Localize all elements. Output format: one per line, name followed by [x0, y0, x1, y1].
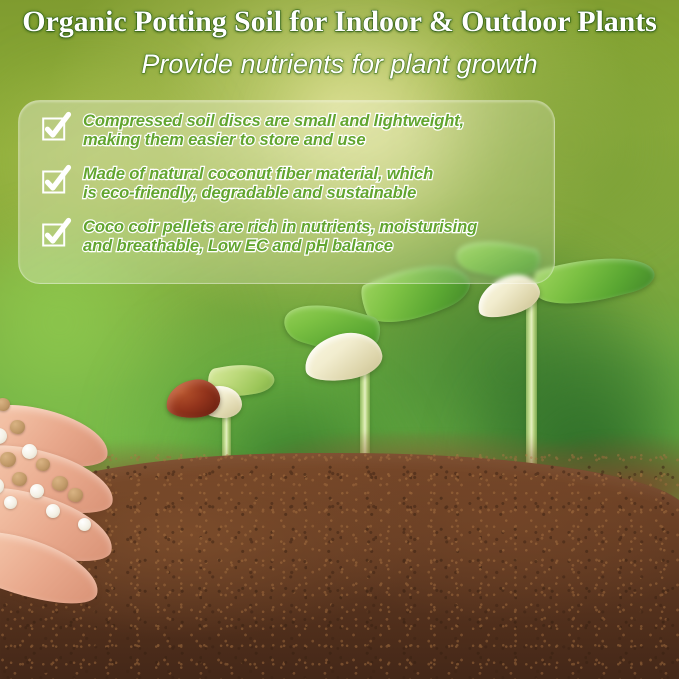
fertilizer-pellet	[52, 476, 68, 491]
list-item: Made of natural coconut fiber material, …	[31, 164, 542, 202]
hand-with-pellets	[0, 392, 160, 602]
list-item: Compressed soil discs are small and ligh…	[31, 111, 542, 149]
fertilizer-pellet	[68, 488, 83, 502]
fertilizer-pellet	[12, 472, 27, 486]
feature-list: Compressed soil discs are small and ligh…	[19, 101, 554, 283]
fertilizer-pellet	[22, 444, 37, 459]
fertilizer-pellet	[30, 484, 44, 498]
product-banner-image: Organic Potting Soil for Indoor & Outdoo…	[0, 0, 679, 679]
page-subtitle: Provide nutrients for plant growth	[0, 49, 679, 80]
feature-text: Compressed soil discs are small and ligh…	[83, 111, 464, 149]
fertilizer-pellet	[10, 420, 25, 434]
feature-text: Made of natural coconut fiber material, …	[83, 164, 433, 202]
feature-highlights-panel: Compressed soil discs are small and ligh…	[18, 100, 555, 284]
fertilizer-pellet	[36, 458, 50, 471]
fertilizer-pellet	[46, 504, 60, 518]
checkbox-checked-icon	[41, 166, 71, 196]
feature-text: Coco coir pellets are rich in nutrients,…	[83, 217, 477, 255]
fertilizer-pellet	[78, 518, 91, 531]
list-item: Coco coir pellets are rich in nutrients,…	[31, 217, 542, 255]
checkbox-checked-icon	[41, 219, 71, 249]
checkbox-checked-icon	[41, 113, 71, 143]
fertilizer-pellet	[0, 452, 16, 467]
fertilizer-pellet	[4, 496, 17, 509]
page-title: Organic Potting Soil for Indoor & Outdoo…	[0, 5, 679, 39]
